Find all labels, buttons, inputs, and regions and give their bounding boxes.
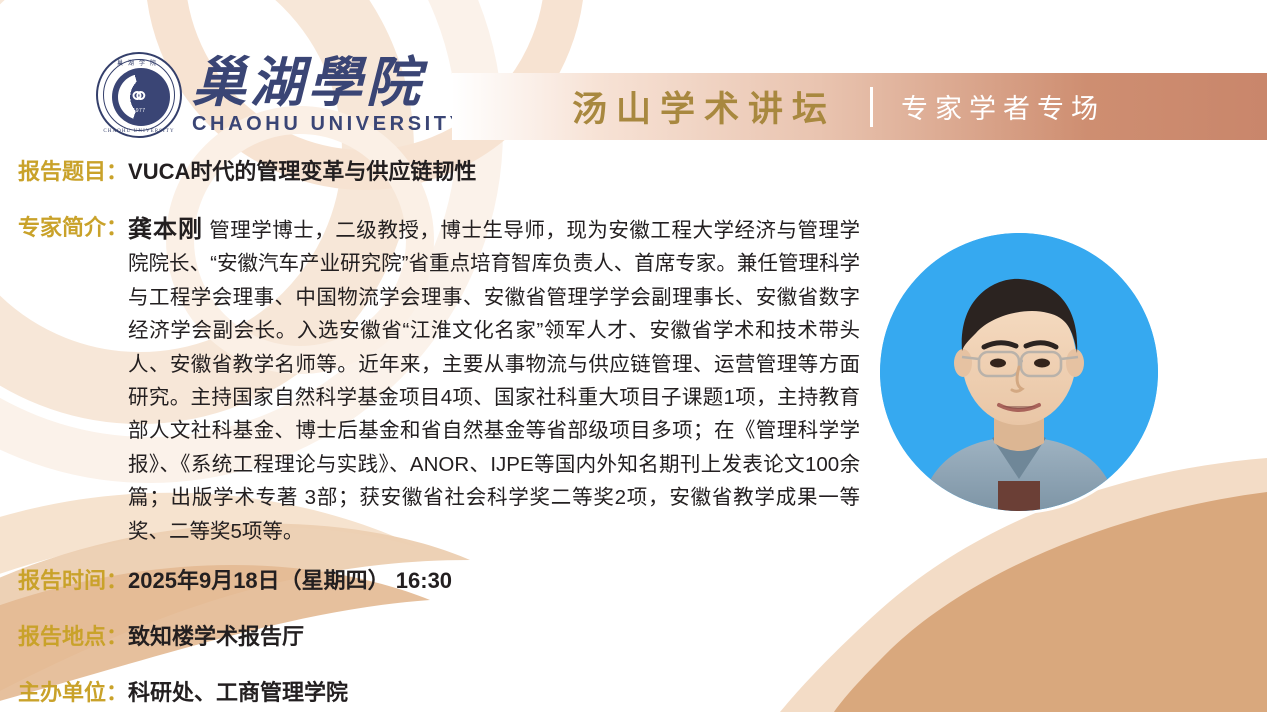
banner-main-title: 汤山学术讲坛 <box>572 81 836 132</box>
seal-top-text: 巢湖学院 <box>98 58 180 67</box>
university-seal-icon: 巢湖学院 ⚭ 1977 CHAOHU UNIVERSITY <box>96 52 182 138</box>
banner-subtitle: 专家学者专场 <box>901 87 1105 126</box>
speaker-bio-label: 专家简介： <box>18 213 128 243</box>
university-wordmark: 巢湖學院 CHAOHU UNIVERSITY <box>192 56 467 134</box>
report-host-label: 主办单位： <box>18 678 128 708</box>
report-time-value: 2025年9月18日（星期四） 16:30 <box>128 566 452 596</box>
report-host-row: 主办单位： 科研处、工商管理学院 <box>18 678 348 708</box>
university-logo-block: 巢湖学院 ⚭ 1977 CHAOHU UNIVERSITY 巢湖學院 CHAOH… <box>96 52 467 138</box>
speaker-name: 龚本刚 <box>128 216 203 243</box>
wordmark-chinese: 巢湖學院 <box>192 56 467 110</box>
forum-banner: 汤山学术讲坛 专家学者专场 <box>452 73 1267 140</box>
report-place-label: 报告地点： <box>18 622 128 652</box>
speaker-bio-paragraph: 管理学博士，二级教授，博士生导师，现为安徽工程大学经济与管理学院院长、“安徽汽车… <box>128 219 860 543</box>
report-time-label: 报告时间： <box>18 566 128 596</box>
report-host-value: 科研处、工商管理学院 <box>128 678 348 708</box>
report-title-row: 报告题目： VUCA时代的管理变革与供应链韧性 <box>18 157 476 187</box>
banner-divider <box>870 87 873 127</box>
poster-root: 巢湖学院 ⚭ 1977 CHAOHU UNIVERSITY 巢湖學院 CHAOH… <box>0 0 1267 712</box>
speaker-bio-text: 龚本刚 管理学博士，二级教授，博士生导师，现为安徽工程大学经济与管理学院院长、“… <box>128 213 860 548</box>
seal-year-text: 1977 <box>98 108 180 114</box>
poster-header: 巢湖学院 ⚭ 1977 CHAOHU UNIVERSITY 巢湖學院 CHAOH… <box>0 0 1267 150</box>
report-time-row: 报告时间： 2025年9月18日（星期四） 16:30 <box>18 566 452 596</box>
seal-bottom-text: CHAOHU UNIVERSITY <box>98 129 180 134</box>
speaker-portrait <box>880 233 1158 511</box>
report-place-row: 报告地点： 致知楼学术报告厅 <box>18 622 304 652</box>
wordmark-english: CHAOHU UNIVERSITY <box>192 114 467 134</box>
report-place-value: 致知楼学术报告厅 <box>128 622 304 652</box>
report-title-value: VUCA时代的管理变革与供应链韧性 <box>128 157 476 187</box>
portrait-illustration <box>880 233 1158 511</box>
report-title-label: 报告题目： <box>18 157 128 187</box>
speaker-bio-row: 专家简介： 龚本刚 管理学博士，二级教授，博士生导师，现为安徽工程大学经济与管理… <box>18 213 888 548</box>
